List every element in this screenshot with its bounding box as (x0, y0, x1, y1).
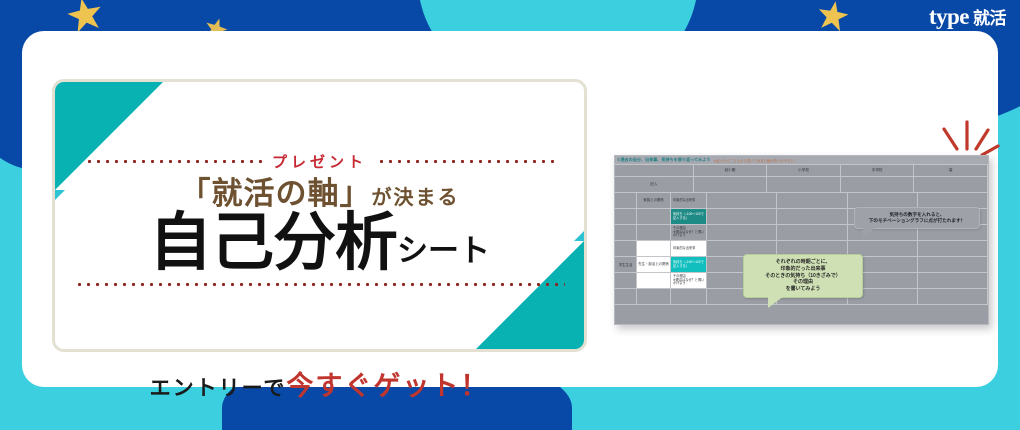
sheet-group-label-cont (637, 225, 671, 240)
sheet-cell[interactable] (707, 193, 777, 208)
sheet-cell[interactable] (707, 225, 777, 240)
sheet-cell[interactable] (841, 177, 915, 192)
sheet-side-label (615, 289, 637, 304)
sheet-side-label (615, 193, 637, 208)
sheet-side-label (615, 209, 637, 224)
sheet-side-label (615, 225, 637, 240)
sheet-cell[interactable] (707, 209, 777, 224)
sheet-grid: 幼少期 小学校 中学校 高 記入 家族との関係 (615, 165, 988, 325)
sheet-subrow-label-feeling: 気持ち（-100〜100で記入する） (671, 257, 707, 272)
dotted-rule-right (377, 160, 555, 163)
sheet-side-label (615, 273, 637, 288)
sheet-side-label (615, 241, 637, 256)
sheet-cell[interactable] (914, 177, 988, 192)
callout-tail (768, 296, 784, 308)
sheet-subrow-label-reason: その理由※理由はなぜ？と問いかけよう (671, 273, 707, 288)
cta-strong: 今すぐゲット！ (286, 371, 489, 401)
sheet-subrow-label-reason: その理由※理由はなぜ？と問いかけよう (671, 225, 707, 240)
sheet-cell[interactable] (694, 177, 768, 192)
brand-logo-type: type (929, 4, 969, 30)
headline-quoted: 「就活の軸」 (180, 176, 372, 211)
title-main: 自己分析 (149, 212, 397, 275)
sheet-col-header: 高 (914, 165, 988, 176)
dotted-rule-left (85, 160, 263, 163)
sheet-cell[interactable] (848, 193, 918, 208)
sheet-cell[interactable] (918, 273, 988, 288)
sheet-titlebar: ①過去の自分、出来事、気持ちを振り返ってみよう ※迷ったらこちらから書いてみると… (615, 156, 988, 165)
sheet-side-label: 学生生活 (615, 257, 637, 272)
sheet-title-main: ①過去の自分、出来事、気持ちを振り返ってみよう (617, 157, 710, 163)
sheet-group-label-2-text: 先生・部活との関係 (637, 257, 671, 272)
sheet-group-label-2 (637, 241, 671, 256)
callout-instruction-text: それぞれの時期ごとに、印象的だった出来事そのときの気持ち（10きざみで）その理由… (765, 259, 841, 292)
sheet-cell[interactable] (918, 241, 988, 256)
sheet-subrow-label-feeling: 気持ち（-100〜100で記入する） (671, 209, 707, 224)
spreadsheet-screenshot[interactable]: ①過去の自分、出来事、気持ちを振り返ってみよう ※迷ったらこちらから書いてみると… (614, 155, 989, 325)
sheet-group-label-cont (637, 209, 671, 224)
sheet-group-label-cont (637, 289, 671, 304)
cta-text: エントリーで今すぐゲット！ (52, 364, 587, 403)
brand-logo: type 就活 (929, 4, 1006, 30)
sheet-row-label: 記入 (615, 177, 694, 192)
sheet-col-header: 幼少期 (694, 165, 768, 176)
sheet-title-note: ※迷ったらこちらから書いてみると軸が見つけやすい！ (713, 158, 797, 163)
sheet-subrow-label: 印象的な出来事 (671, 241, 707, 256)
sheet-cell[interactable] (777, 209, 847, 224)
cta-lead: エントリーで (150, 377, 287, 400)
callout-graph-hint: 気持ちの数字を入れると、下のモチベーショングラフに点が打たれます！ (854, 207, 980, 229)
sheet-cell[interactable] (918, 257, 988, 272)
offer-panel: プレゼント 「就活の軸」が決まる 自己分析 シート (52, 79, 587, 352)
callout-instruction: それぞれの時期ごとに、印象的だった出来事そのときの気持ち（10きざみで）その理由… (743, 254, 863, 298)
sheet-group-label: 家族との関係 (637, 193, 671, 208)
brand-logo-jp: 就活 (973, 4, 1006, 29)
sheet-cell[interactable] (767, 177, 841, 192)
sheet-subrow-label (671, 289, 707, 304)
sheet-corner-cell (615, 165, 694, 176)
sheet-cell[interactable] (918, 289, 988, 304)
callout-graph-hint-text: 気持ちの数字を入れると、下のモチベーショングラフに点が打たれます！ (869, 212, 965, 223)
title-sub: シート (397, 225, 490, 275)
sheet-group-label-2-cont (637, 273, 671, 288)
headline-suffix: が決まる (372, 187, 460, 209)
sheet-col-header: 小学校 (767, 165, 841, 176)
present-label: プレゼント (272, 151, 367, 172)
headline-title: 自己分析 シート (149, 212, 490, 275)
dotted-rule-bottom (75, 283, 565, 286)
promo-banner: type 就活 プレゼント 「就活の軸」が決まる 自己分析 (0, 0, 1020, 430)
sheet-cell[interactable] (918, 193, 988, 208)
sheet-subrow-label: 印象的な出来事 (671, 193, 707, 208)
callout-tail (863, 227, 876, 238)
sheet-col-header: 中学校 (841, 165, 915, 176)
sheet-row: 記入 (615, 177, 988, 193)
white-card: プレゼント 「就活の軸」が決まる 自己分析 シート エントリーで今すぐゲット！ (22, 31, 998, 387)
sheet-header-row: 幼少期 小学校 中学校 高 (615, 165, 988, 177)
sheet-cell[interactable] (777, 225, 847, 240)
sheet-cell[interactable] (777, 193, 847, 208)
present-row: プレゼント (85, 151, 555, 172)
